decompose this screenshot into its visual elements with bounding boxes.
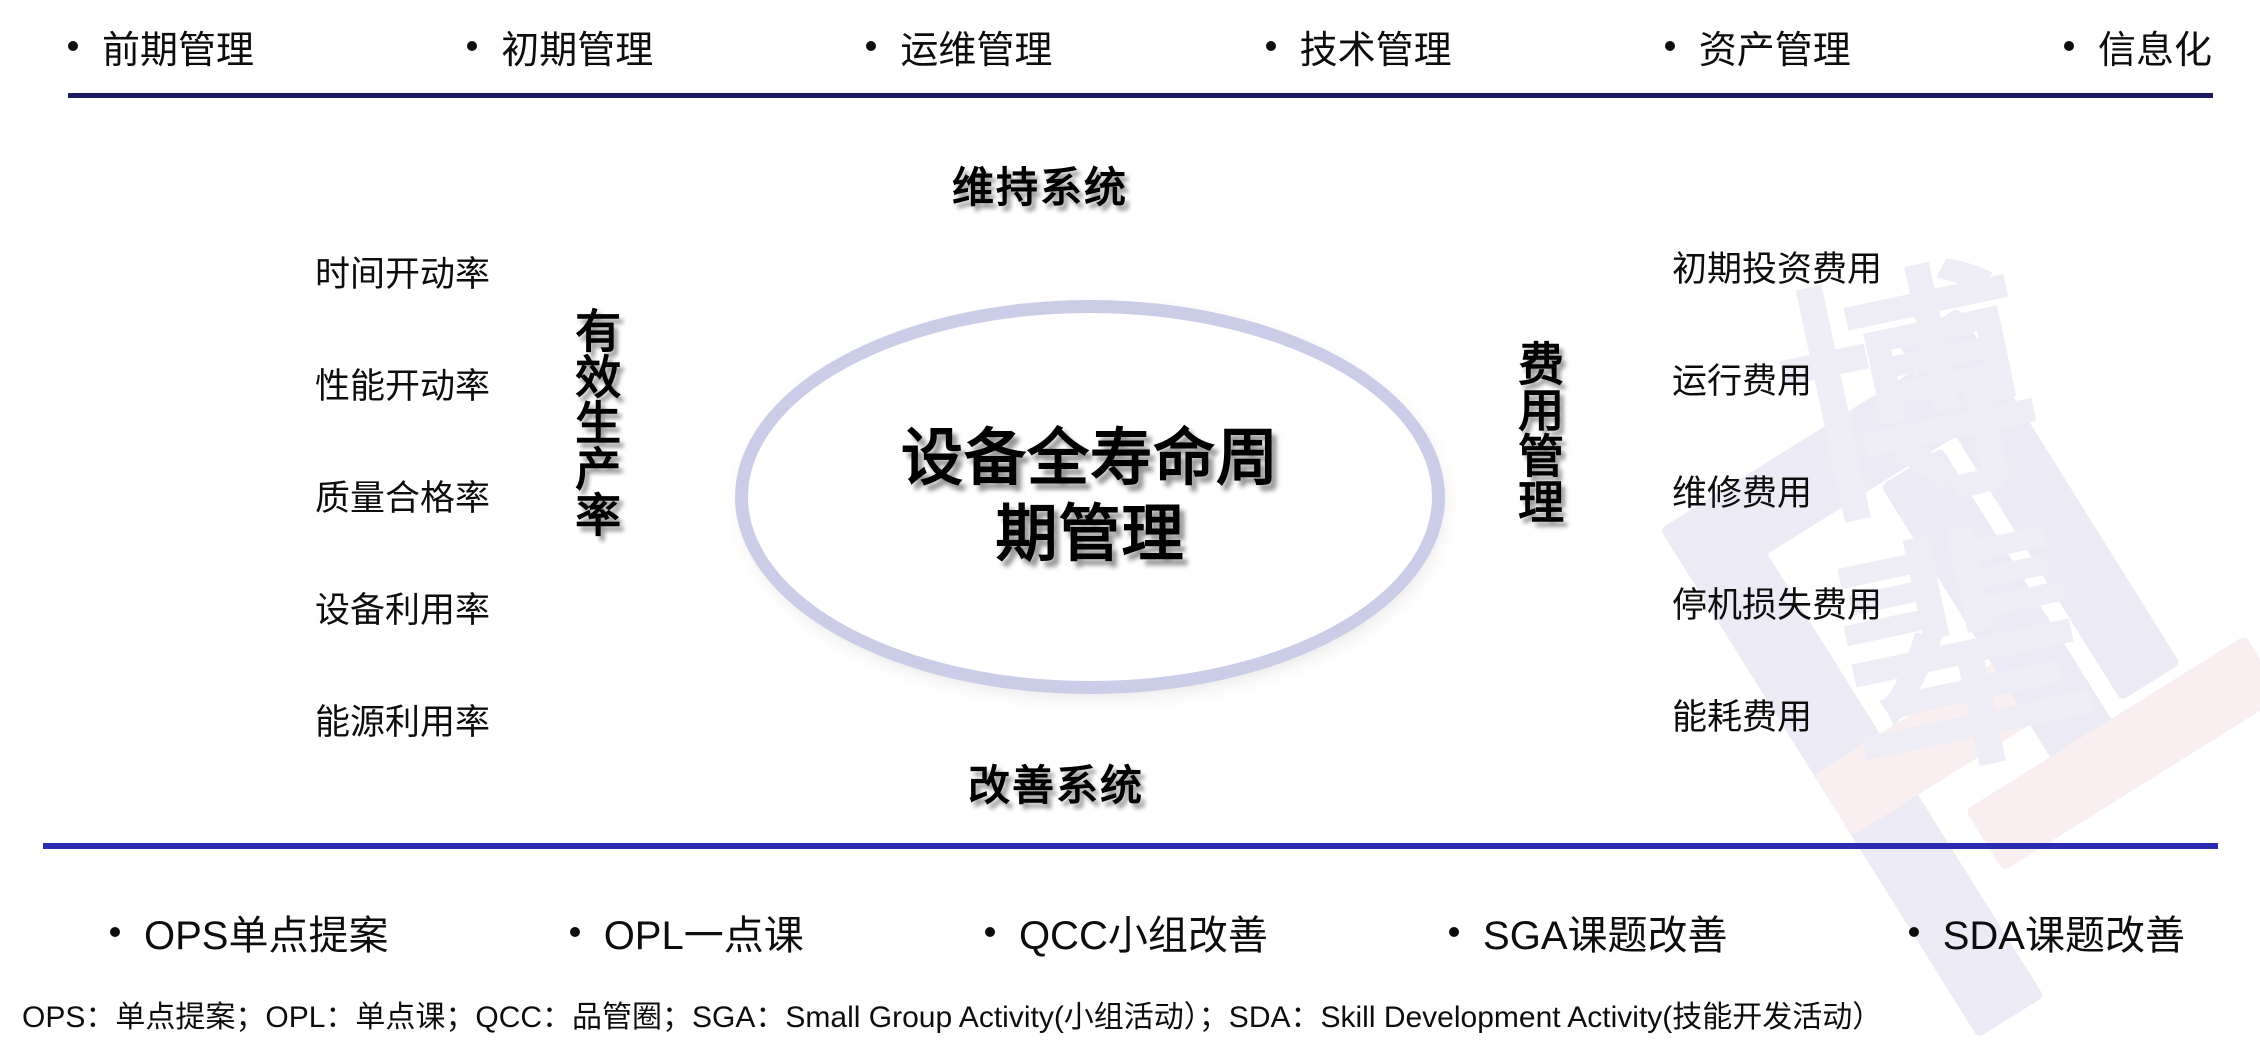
bottom-nav-item-label: SDA课题改善 — [1943, 903, 2185, 961]
bottom-nav-item-0[interactable]: OPS单点提案 — [110, 903, 388, 961]
top-nav-item-3[interactable]: 技术管理 — [1266, 19, 1452, 74]
bullet-dot-icon — [68, 41, 78, 51]
left-metric-item: 能源利用率 — [315, 685, 490, 759]
bullet-dot-icon — [1449, 927, 1459, 937]
top-nav-item-label: 信息化 — [2098, 19, 2212, 74]
top-nav-item-label: 运维管理 — [900, 19, 1052, 74]
left-metrics-column: 时间开动率 性能开动率 质量合格率 设备利用率 能源利用率 — [230, 237, 490, 797]
left-metric-item: 时间开动率 — [315, 237, 490, 311]
center-title-line2: 期管理 — [995, 497, 1184, 573]
bottom-nav-item-label: OPL一点课 — [604, 903, 804, 961]
top-nav-item-0[interactable]: 前期管理 — [68, 19, 254, 74]
top-nav-item-5[interactable]: 信息化 — [2064, 19, 2212, 74]
slide-canvas: 博辈 前期管理 初期管理 运维管理 技术管理 资产管理 信息化 时间开动率 — [0, 0, 2260, 1058]
bottom-divider — [43, 843, 2218, 849]
bottom-nav-item-3[interactable]: SGA课题改善 — [1449, 903, 1727, 961]
top-nav: 前期管理 初期管理 运维管理 技术管理 资产管理 信息化 — [68, 16, 2212, 76]
right-cost-item: 停机损失费用 — [1672, 568, 1882, 642]
right-cost-item: 维修费用 — [1672, 456, 1812, 530]
top-nav-item-label: 前期管理 — [102, 19, 254, 74]
center-title: 设备全寿命周 期管理 — [735, 300, 1445, 694]
footnote: OPS：单点提案；OPL：单点课；QCC：品管圈；SGA：Small Group… — [22, 1000, 2232, 1036]
top-nav-item-1[interactable]: 初期管理 — [467, 19, 653, 74]
bottom-nav-item-1[interactable]: OPL一点课 — [570, 903, 804, 961]
bullet-dot-icon — [570, 927, 580, 937]
bullet-dot-icon — [1665, 41, 1675, 51]
top-nav-item-label: 资产管理 — [1699, 19, 1851, 74]
top-nav-item-2[interactable]: 运维管理 — [866, 19, 1052, 74]
center-title-line1: 设备全寿命周 — [901, 421, 1279, 497]
bottom-nav-item-label: SGA课题改善 — [1483, 903, 1727, 961]
right-cost-item: 运行费用 — [1672, 344, 1812, 418]
right-axis-label: 费用管理 — [1510, 340, 1566, 524]
bottom-nav-item-4[interactable]: SDA课题改善 — [1909, 903, 2185, 961]
bullet-dot-icon — [1266, 41, 1276, 51]
top-divider — [68, 93, 2213, 98]
bullet-dot-icon — [467, 41, 477, 51]
bullet-dot-icon — [866, 41, 876, 51]
bullet-dot-icon — [1909, 927, 1919, 937]
bullet-dot-icon — [985, 927, 995, 937]
left-axis-label: 有效生产率 — [567, 307, 623, 537]
top-nav-item-4[interactable]: 资产管理 — [1665, 19, 1851, 74]
bottom-nav-item-2[interactable]: QCC小组改善 — [985, 903, 1268, 961]
right-cost-item: 初期投资费用 — [1672, 232, 1882, 306]
left-metric-item: 质量合格率 — [315, 461, 490, 535]
bottom-nav: OPS单点提案 OPL一点课 QCC小组改善 SGA课题改善 SDA课题改善 — [110, 902, 2185, 962]
bullet-dot-icon — [110, 927, 120, 937]
bottom-nav-item-label: QCC小组改善 — [1019, 903, 1268, 961]
improve-system-label: 改善系统 — [968, 752, 1144, 813]
left-metric-item: 设备利用率 — [315, 573, 490, 647]
right-cost-item: 能耗费用 — [1672, 680, 1812, 754]
maintain-system-label: 维持系统 — [952, 154, 1128, 215]
top-nav-item-label: 技术管理 — [1300, 19, 1452, 74]
top-nav-item-label: 初期管理 — [501, 19, 653, 74]
bottom-nav-item-label: OPS单点提案 — [144, 903, 388, 961]
left-metric-item: 性能开动率 — [315, 349, 490, 423]
right-cost-column: 初期投资费用 运行费用 维修费用 停机损失费用 能耗费用 — [1672, 232, 1972, 792]
center-ellipse: 设备全寿命周 期管理 — [735, 300, 1445, 690]
bullet-dot-icon — [2064, 41, 2074, 51]
